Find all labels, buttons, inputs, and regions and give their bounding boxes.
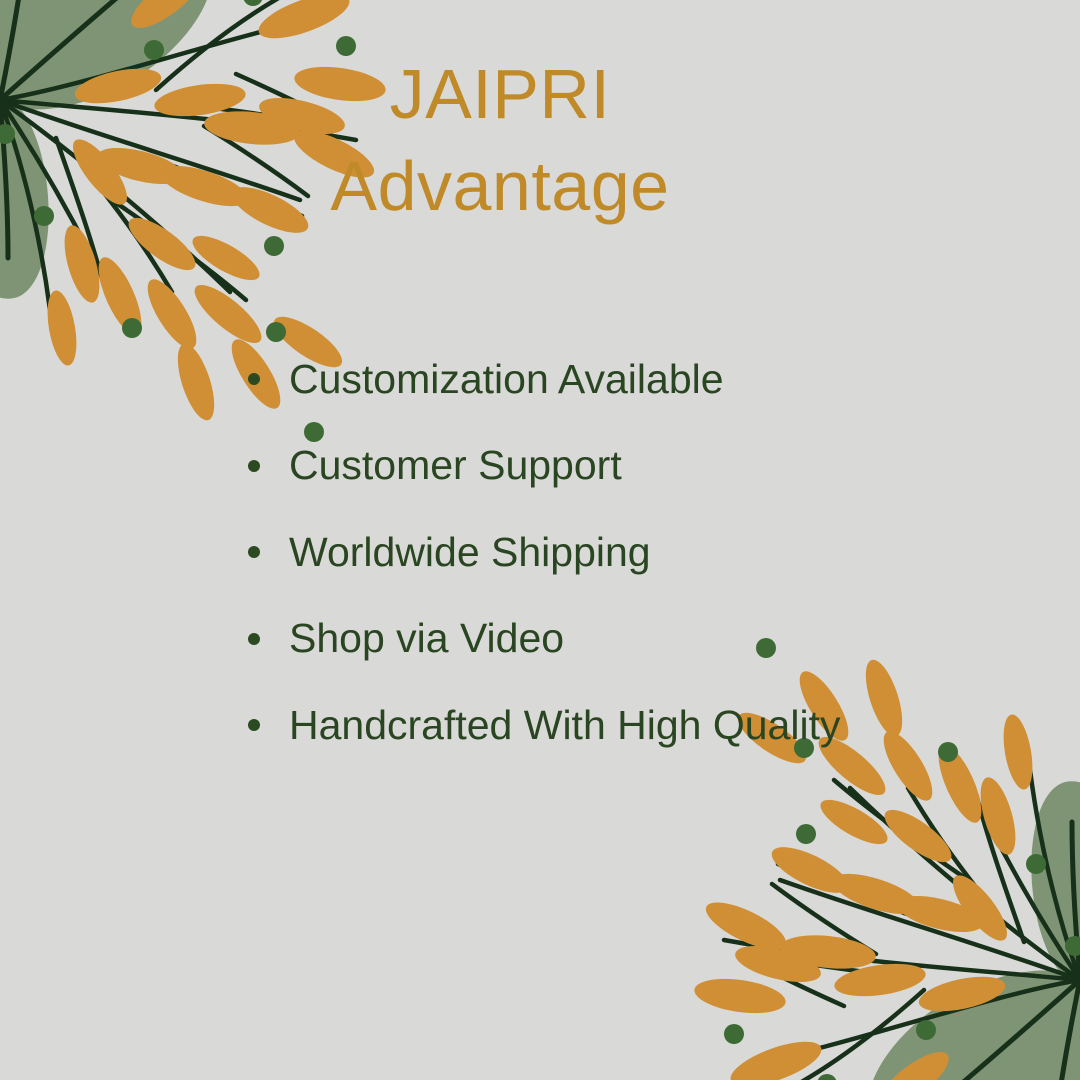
- list-item: Worldwide Shipping: [248, 509, 840, 596]
- list-item: Shop via Video: [248, 596, 840, 683]
- bullet-dot-icon: [248, 460, 260, 472]
- list-item: Customization Available: [248, 336, 840, 423]
- advantage-list: Customization Available Customer Support…: [248, 336, 840, 769]
- advantage-label: Handcrafted With High Quality: [289, 705, 840, 746]
- list-item: Handcrafted With High Quality: [248, 682, 840, 769]
- bullet-dot-icon: [248, 633, 260, 645]
- title-line-subject: Advantage: [0, 140, 1000, 232]
- advantage-label: Worldwide Shipping: [289, 532, 651, 573]
- advantage-label: Customer Support: [289, 445, 622, 486]
- title-line-brand: JAIPRI: [0, 48, 1000, 140]
- advantage-label: Shop via Video: [289, 618, 564, 659]
- page-title: JAIPRI Advantage: [0, 48, 1000, 233]
- bullet-dot-icon: [248, 546, 260, 558]
- golden-branch-group: [724, 752, 1080, 1080]
- sage-leaves-cluster: [869, 781, 1080, 1080]
- bullet-dot-icon: [248, 719, 260, 731]
- advantage-label: Customization Available: [289, 359, 724, 400]
- bullet-dot-icon: [248, 373, 260, 385]
- list-item: Customer Support: [248, 423, 840, 510]
- poster-canvas: JAIPRI Advantage Customization Available…: [0, 0, 1080, 1080]
